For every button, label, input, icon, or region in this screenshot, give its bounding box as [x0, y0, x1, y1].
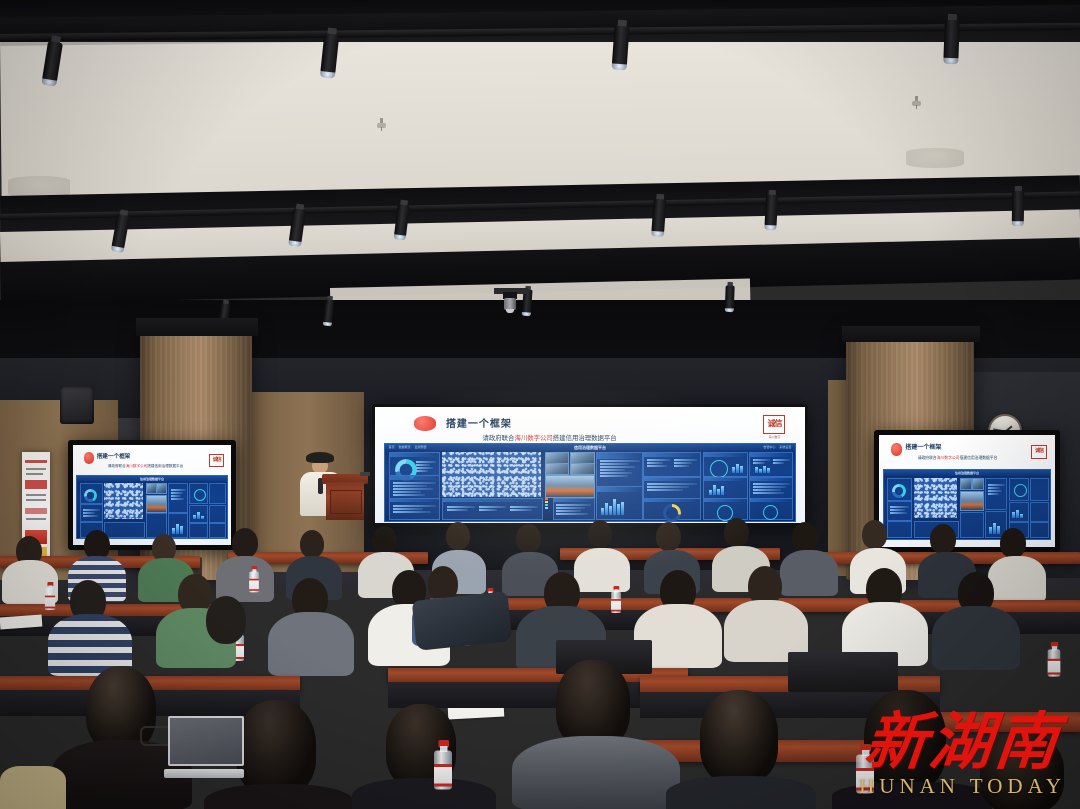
- sprinkler-head: [912, 96, 921, 109]
- camera-feed: [570, 463, 595, 475]
- panel-region-map: [914, 478, 957, 518]
- dashboard-title: 信用治理数据平台: [77, 477, 227, 481]
- subtitle-part-1: 请政府联合: [108, 464, 126, 468]
- panel-log-table: [209, 505, 226, 523]
- panel-map-legend: [442, 498, 543, 520]
- subtitle-part-2: 搭建信用治理数据平台: [147, 464, 183, 468]
- slide-canvas-right: 搭建一个框架 请政府联合海川数字公司搭建信用治理数据平台 诚信 信用治理数据平台: [879, 435, 1055, 547]
- dashboard-screenshot: 首页 数据概览 监测预警 信用治理数据平台 告警中心 系统设置: [384, 443, 797, 522]
- audience-head: [300, 530, 324, 558]
- audience-head: [1000, 528, 1026, 558]
- slide-canvas: 搭建一个框架 请政府联合海川数字公司搭建信用治理数据平台 诚信 海川数字 首页 …: [375, 407, 805, 523]
- panel-credit-level-donut: [389, 452, 440, 475]
- foreground-body: [512, 736, 680, 809]
- backpack: [412, 591, 513, 651]
- dashboard-header: 首页 数据概览 监测预警 信用治理数据平台 告警中心 系统设置: [385, 444, 796, 451]
- audience-body: [574, 548, 630, 592]
- panel-ring-small-2: [749, 498, 793, 520]
- audience-head: [232, 528, 258, 558]
- audience-head: [588, 520, 612, 548]
- camera-feed: [960, 478, 972, 490]
- foreground-body: [352, 778, 496, 809]
- gauge-ring: [710, 460, 728, 478]
- panel-stats-table-left: [389, 475, 440, 498]
- seal-characters: 诚信: [763, 415, 785, 434]
- camera-feed: [156, 483, 167, 494]
- slide-bullet-dot: [414, 416, 436, 431]
- panel-icons-row: [1030, 478, 1049, 501]
- camera-feed: [545, 463, 570, 475]
- gauge-ring: [763, 505, 778, 520]
- audience-head: [206, 596, 246, 644]
- panel-credit-level-donut: [80, 483, 103, 504]
- company-seal-logo: 诚信 海川数字: [755, 413, 794, 441]
- seal-caption: 海川数字: [768, 435, 780, 439]
- panel-bar-compare: [703, 477, 748, 499]
- camera-feed-large: [146, 495, 167, 513]
- panel-score-gauge: [703, 452, 748, 477]
- conference-photo: 搭建一个框架 请政府联合海川数字公司搭建信用治理数据平台 诚信 海川数字 首页 …: [0, 0, 1080, 809]
- panel-bar-compare: [189, 505, 207, 523]
- foreground-body: [666, 776, 816, 809]
- audience-head: [792, 522, 818, 552]
- panel-ring-small-2: [209, 523, 226, 537]
- column-cap-right: [842, 326, 980, 342]
- panel-subject-credit: [596, 452, 643, 486]
- slide-bullet-dot: [84, 452, 93, 464]
- slide-title: 搭建一个框架: [446, 415, 512, 430]
- slide-bullet-dot: [891, 443, 902, 456]
- panel-credit-level-donut: [887, 478, 912, 501]
- gauge-ring: [1014, 484, 1027, 497]
- ceiling-vent: [906, 148, 964, 168]
- panel-summary-left: [389, 498, 440, 520]
- foreground-body: [0, 766, 66, 809]
- laptop[interactable]: [168, 716, 240, 778]
- dashboard-header: 信用治理数据平台: [77, 476, 227, 482]
- camera-feed: [972, 478, 984, 490]
- podium-laptop: [360, 472, 370, 476]
- panel-icons-row: [209, 483, 226, 504]
- camera-feed-large: [960, 491, 984, 511]
- slide-title: 搭建一个框架: [97, 452, 131, 460]
- dashboard-screenshot: 信用治理数据平台: [883, 469, 1052, 540]
- panel-ring-small: [703, 498, 748, 520]
- column-cap-left: [136, 318, 258, 336]
- panel-stats-table-left: [887, 501, 912, 521]
- audience-head: [516, 524, 541, 553]
- dashboard-header: 信用治理数据平台: [884, 470, 1051, 476]
- chair-back: [788, 652, 898, 692]
- panel-ring-small: [189, 523, 207, 537]
- slide-title: 搭建一个框架: [905, 442, 941, 451]
- audience-head: [372, 526, 397, 555]
- audience-body: [988, 556, 1046, 602]
- donut-chart: [84, 489, 97, 502]
- gauge-ring: [194, 489, 206, 501]
- slide-subtitle: 请政府联合海川数字公司搭建信用治理数据平台: [108, 464, 183, 469]
- panel-log-table: [749, 477, 793, 499]
- panel-alert-list: [960, 512, 984, 538]
- panel-map-legend: [104, 522, 145, 538]
- panel-stats-table-left: [80, 504, 103, 522]
- donut-chart: [663, 504, 681, 521]
- panel-industry-bars: [168, 513, 188, 537]
- wall-speaker: [60, 386, 94, 424]
- camera-feed: [146, 483, 157, 494]
- panel-bar-compare: [1009, 502, 1029, 522]
- panel-icons-row: [749, 452, 793, 477]
- panel-score-gauge: [189, 483, 207, 504]
- subtitle-part-2: 搭建信用治理数据平台: [553, 435, 617, 442]
- seal-characters: 诚信: [209, 454, 224, 467]
- subtitle-highlight: 海川数字公司: [514, 435, 552, 442]
- audience-head: [724, 518, 749, 547]
- donut-chart: [892, 484, 906, 498]
- right-side-monitor[interactable]: 搭建一个框架 请政府联合海川数字公司搭建信用治理数据平台 诚信 信用治理数据平台: [874, 430, 1060, 552]
- panel-trend-donut: [643, 498, 700, 520]
- panel-region-map: [442, 452, 541, 496]
- panel-metrics-grid: [643, 452, 700, 477]
- company-seal-logo: 诚信: [1029, 439, 1050, 464]
- panel-subject-credit: [168, 483, 188, 512]
- panel-ring-small-2: [1030, 522, 1049, 538]
- audience-body: [932, 606, 1020, 670]
- foreground-head: [236, 700, 316, 796]
- dashboard-title: 信用治理数据平台: [385, 445, 796, 451]
- foreground-body: [204, 784, 354, 809]
- panel-summary-left: [887, 521, 912, 538]
- audience-head: [656, 522, 681, 551]
- audience-head: [862, 520, 887, 549]
- company-seal-logo: 诚信: [207, 449, 226, 471]
- presenter-hair: [306, 452, 334, 463]
- audience-head: [446, 522, 470, 550]
- foreground-head: [700, 690, 778, 784]
- dashboard-title: 信用治理数据平台: [884, 471, 1051, 475]
- subtitle-part-1: 请政府联合: [918, 456, 937, 460]
- subtitle-part-1: 请政府联合: [483, 435, 515, 442]
- podium-panel: [330, 490, 362, 514]
- panel-detail-table: [643, 477, 700, 499]
- foreground-head: [980, 732, 1064, 809]
- foreground-head: [556, 660, 630, 748]
- panel-industry-bars: [596, 486, 643, 520]
- main-projection-screen[interactable]: 搭建一个框架 请政府联合海川数字公司搭建信用治理数据平台 诚信 海川数字 首页 …: [372, 404, 808, 526]
- subtitle-highlight: 海川数字公司: [937, 456, 960, 460]
- sprinkler-head: [377, 118, 386, 131]
- panel-log-table: [1030, 502, 1049, 522]
- foreground-head: [864, 690, 946, 790]
- panel-score-gauge: [1009, 478, 1029, 501]
- panel-alert-list: [553, 498, 595, 521]
- camera-feed-large: [545, 475, 595, 498]
- subtitle-part-2: 搭建信用治理数据平台: [959, 456, 997, 460]
- slide-subtitle: 请政府联合海川数字公司搭建信用治理数据平台: [483, 433, 617, 442]
- subtitle-highlight: 海川数字公司: [126, 464, 148, 468]
- seal-characters: 诚信: [1031, 445, 1047, 459]
- audience-body: [268, 612, 354, 676]
- panel-subject-credit: [985, 478, 1007, 511]
- slide-subtitle: 请政府联合海川数字公司搭建信用治理数据平台: [918, 456, 998, 461]
- audience-body: [780, 550, 838, 596]
- audience-head: [930, 524, 956, 554]
- panel-region-map: [104, 483, 143, 519]
